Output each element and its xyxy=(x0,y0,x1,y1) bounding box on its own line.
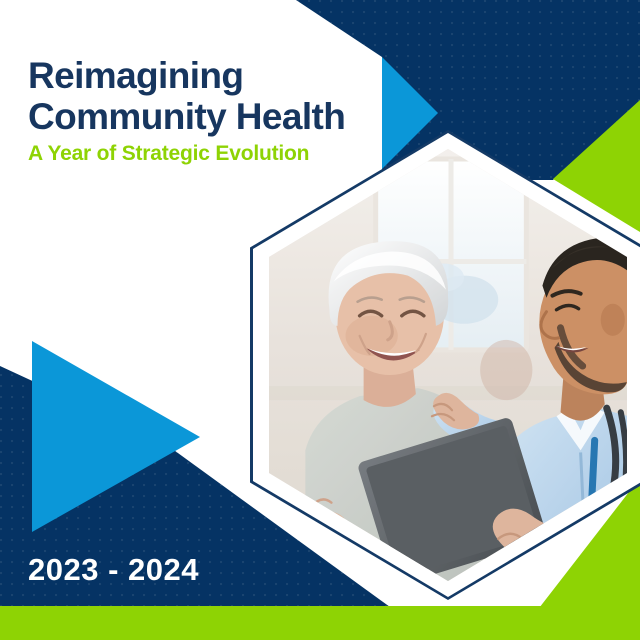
hexagon-photo-frame xyxy=(250,130,640,600)
page-subtitle: A Year of Strategic Evolution xyxy=(28,142,309,166)
report-cover: Reimagining Community Health A Year of S… xyxy=(0,0,640,640)
report-period-label: 2023 - 2024 xyxy=(28,552,199,588)
page-title: Reimagining Community Health xyxy=(28,55,408,138)
